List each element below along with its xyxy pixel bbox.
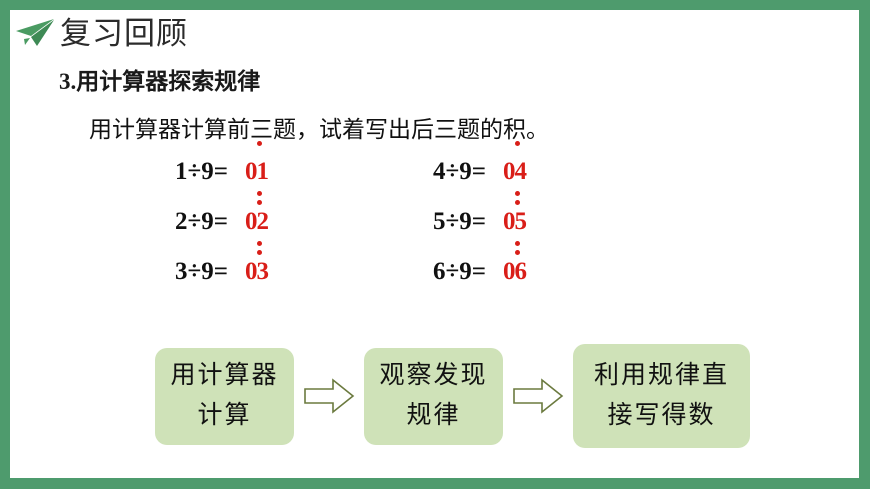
arrow-right-icon [511, 376, 565, 416]
equation-answer: 05 [503, 208, 526, 236]
equation-answer: 02 [245, 208, 268, 236]
equation-row: 3÷9= 03 6÷9= 06 [175, 258, 735, 308]
equation-answer-value: 01 [245, 158, 268, 185]
equation-answer-value: 03 [245, 258, 268, 285]
equation-expression: 1÷9= [175, 158, 228, 186]
equation-item: 5÷9= 05 [433, 208, 526, 236]
page-title: 复习回顾 [60, 17, 188, 51]
flow-step-box-2: 观察发现 规律 [364, 348, 503, 445]
repeating-dot-below [257, 200, 262, 205]
equation-answer-value: 02 [245, 208, 268, 235]
equation-item: 3÷9= 03 [175, 258, 268, 286]
equation-item: 4÷9= 04 [433, 158, 526, 186]
repeating-dot-below [257, 250, 262, 255]
process-flow-diagram: 用计算器 计算 观察发现 规律 利用规律直 接写得数 [155, 344, 750, 448]
equation-answer: 04 [503, 158, 526, 186]
equation-expression: 2÷9= [175, 208, 228, 236]
frame-border-bottom [0, 478, 870, 489]
equation-answer: 03 [245, 258, 268, 286]
flow-step-label-line: 接写得数 [607, 396, 715, 436]
paper-plane-icon [14, 17, 56, 51]
flow-step-label-line: 利用规律直 [594, 356, 729, 396]
instruction-text: 用计算器计算前三题，试着写出后三题的积。 [89, 116, 549, 144]
equation-expression: 5÷9= [433, 208, 486, 236]
equation-item: 1÷9= 01 [175, 158, 268, 186]
slide-header: 复习回顾 [14, 14, 188, 54]
repeating-dot-above [515, 141, 520, 146]
section-heading: 3.用计算器探索规律 [59, 68, 260, 96]
flow-step-label-line: 计算 [197, 396, 251, 436]
equation-answer-value: 04 [503, 158, 526, 185]
frame-border-right [859, 0, 870, 489]
slide-canvas: 复习回顾 3.用计算器探索规律 用计算器计算前三题，试着写出后三题的积。 1÷9… [0, 0, 870, 489]
flow-step-label-line: 观察发现 [379, 356, 487, 396]
equation-expression: 6÷9= [433, 258, 486, 286]
frame-border-left [0, 0, 10, 489]
equation-row: 2÷9= 02 5÷9= 05 [175, 208, 735, 258]
flow-step-label-line: 规律 [406, 396, 460, 436]
equation-answer-value: 06 [503, 258, 526, 285]
equation-answer-value: 05 [503, 208, 526, 235]
flow-step-box-3: 利用规律直 接写得数 [573, 344, 750, 448]
repeating-dot-above [257, 141, 262, 146]
frame-border-top [0, 0, 870, 10]
equation-expression: 3÷9= [175, 258, 228, 286]
flow-step-box-1: 用计算器 计算 [155, 348, 294, 445]
arrow-right-icon [302, 376, 356, 416]
repeating-dot-below [515, 250, 520, 255]
equation-item: 2÷9= 02 [175, 208, 268, 236]
equation-row: 1÷9= 01 4÷9= 04 [175, 158, 735, 208]
equation-list: 1÷9= 01 4÷9= 04 2÷9= 02 [175, 158, 735, 308]
equation-item: 6÷9= 06 [433, 258, 526, 286]
equation-answer: 06 [503, 258, 526, 286]
equation-answer: 01 [245, 158, 268, 186]
flow-step-label-line: 用计算器 [170, 356, 278, 396]
repeating-dot-below [515, 200, 520, 205]
equation-expression: 4÷9= [433, 158, 486, 186]
